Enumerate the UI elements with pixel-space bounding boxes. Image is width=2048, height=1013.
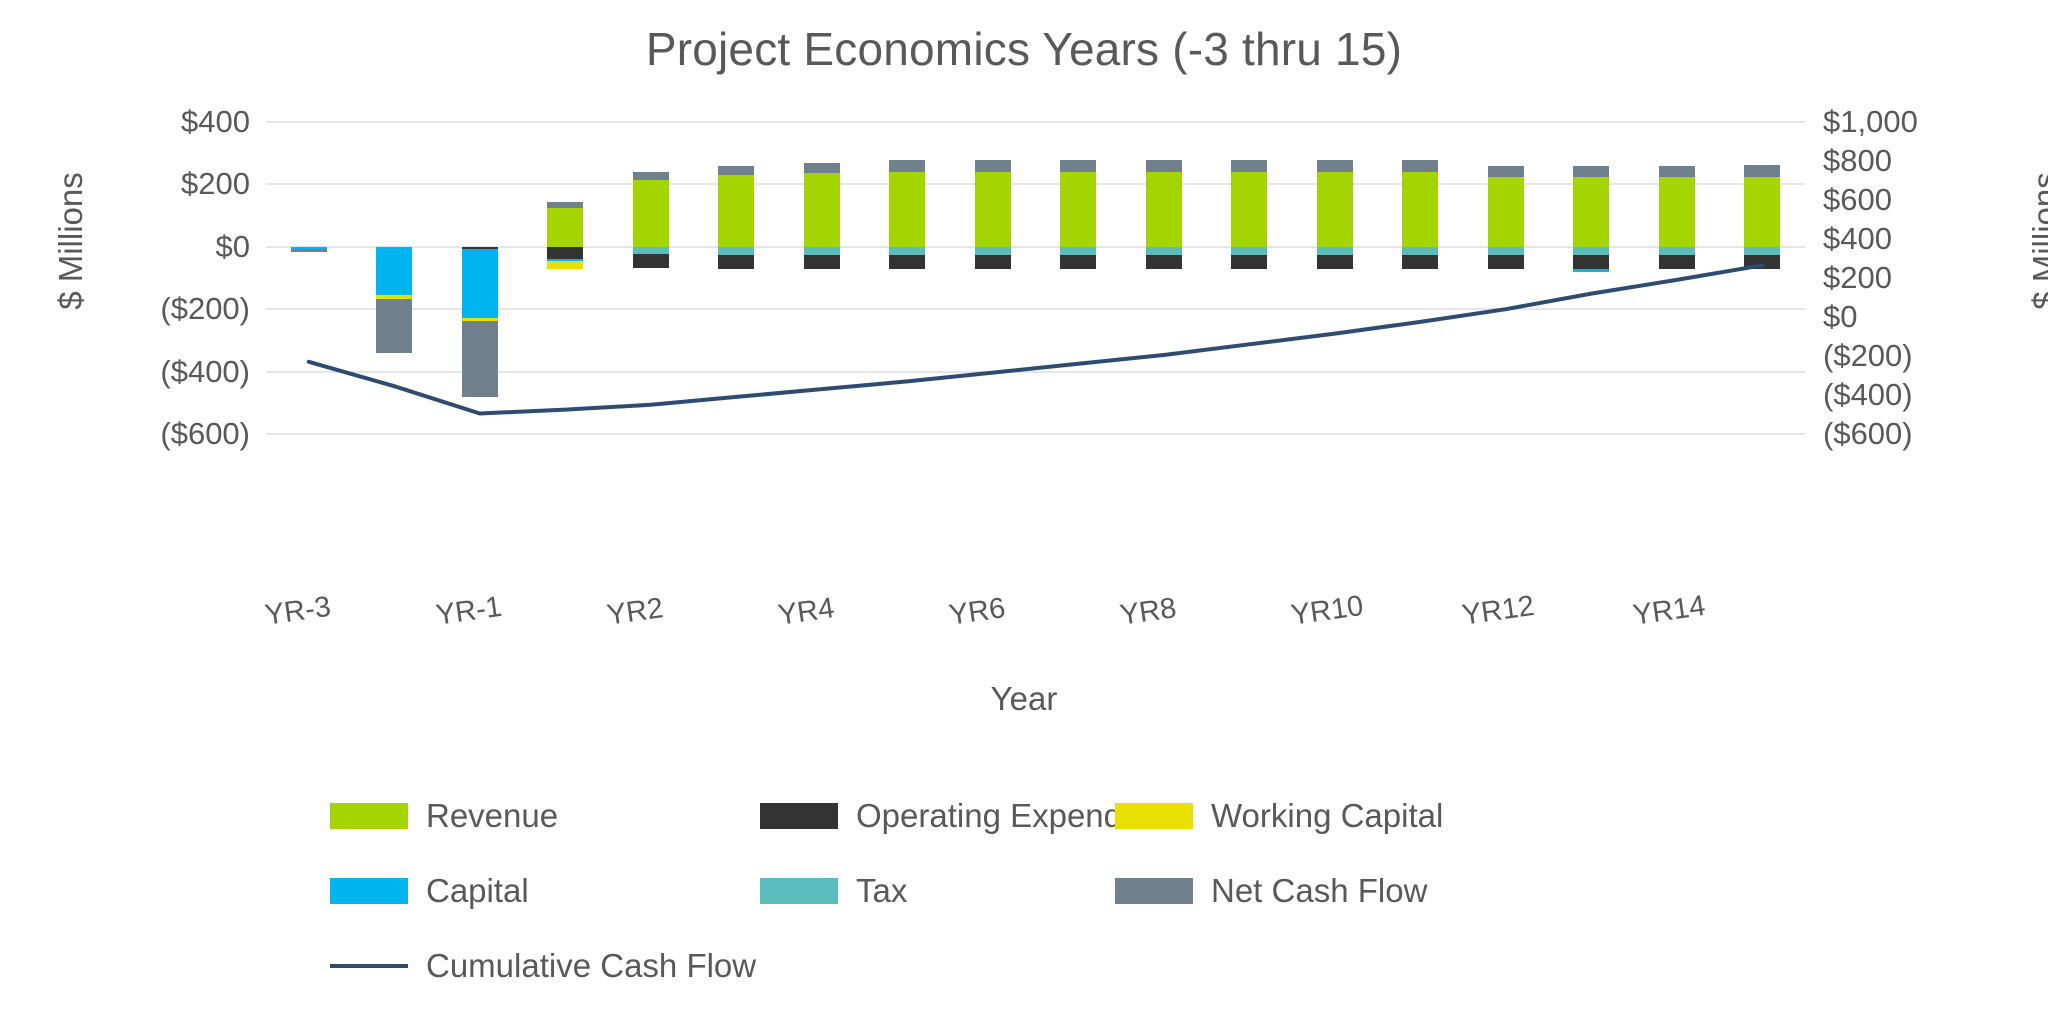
legend-swatch <box>330 803 408 829</box>
legend-row: Cumulative Cash Flow <box>330 928 1630 1003</box>
y-tick-right: ($200) <box>1823 338 1913 374</box>
legend-item[interactable]: Revenue <box>330 797 558 835</box>
y-tick-left: ($600) <box>160 416 250 452</box>
legend-label: Cumulative Cash Flow <box>426 947 756 985</box>
x-tick-label: YR-1 <box>434 591 504 633</box>
x-tick-label: YR6 <box>947 592 1007 633</box>
legend-line-marker <box>330 964 408 968</box>
legend-label: Revenue <box>426 797 558 835</box>
y-tick-right: $600 <box>1823 182 1892 218</box>
x-tick-label: YR12 <box>1460 590 1536 633</box>
y-tick-right: $200 <box>1823 260 1892 296</box>
legend-row: CapitalTaxNet Cash Flow <box>330 853 1630 928</box>
x-tick-label: YR4 <box>776 592 836 633</box>
cumulative-cash-flow-line <box>266 122 1805 434</box>
x-axis-title: Year <box>0 680 2048 718</box>
y-axis-left-title: $ Millions <box>52 126 90 356</box>
y-tick-right: $1,000 <box>1823 104 1918 140</box>
legend-row: RevenueOperating ExpenditureWorking Capi… <box>330 778 1630 853</box>
y-tick-right: ($400) <box>1823 377 1913 413</box>
y-tick-right: ($600) <box>1823 416 1913 452</box>
y-tick-left: ($200) <box>160 291 250 327</box>
chart-title: Project Economics Years (-3 thru 15) <box>0 22 2048 76</box>
legend-item[interactable]: Working Capital <box>1115 797 1443 835</box>
y-tick-right: $400 <box>1823 221 1892 257</box>
legend-item[interactable]: Tax <box>760 872 907 910</box>
x-tick-label: YR10 <box>1289 590 1365 633</box>
y-axis-right: $1,000$800$600$400$200$0($200)($400)($60… <box>1823 122 2033 434</box>
y-tick-right: $0 <box>1823 299 1857 335</box>
y-tick-left: $0 <box>216 229 250 265</box>
x-tick-label: YR2 <box>605 592 665 633</box>
y-tick-left: $400 <box>181 104 250 140</box>
x-tick-label: YR-3 <box>263 591 333 633</box>
y-axis-right-title: $ Millions <box>2026 126 2048 356</box>
cumulative-cash-flow-polyline <box>309 265 1763 413</box>
legend-swatch <box>1115 878 1193 904</box>
legend-swatch <box>760 803 838 829</box>
legend-swatch <box>330 878 408 904</box>
x-tick-label: YR14 <box>1631 590 1707 633</box>
legend-label: Capital <box>426 872 529 910</box>
legend-item[interactable]: Cumulative Cash Flow <box>330 947 756 985</box>
chart-canvas: Project Economics Years (-3 thru 15) $40… <box>0 0 2048 1013</box>
y-tick-right: $800 <box>1823 143 1892 179</box>
legend-label: Working Capital <box>1211 797 1443 835</box>
legend-label: Tax <box>856 872 907 910</box>
legend-item[interactable]: Capital <box>330 872 529 910</box>
legend-swatch <box>1115 803 1193 829</box>
legend-label: Net Cash Flow <box>1211 872 1427 910</box>
y-tick-left: ($400) <box>160 354 250 390</box>
chart-legend: RevenueOperating ExpenditureWorking Capi… <box>330 778 1630 1003</box>
x-tick-label: YR8 <box>1118 592 1178 633</box>
legend-swatch <box>760 878 838 904</box>
legend-item[interactable]: Net Cash Flow <box>1115 872 1427 910</box>
y-tick-left: $200 <box>181 166 250 202</box>
